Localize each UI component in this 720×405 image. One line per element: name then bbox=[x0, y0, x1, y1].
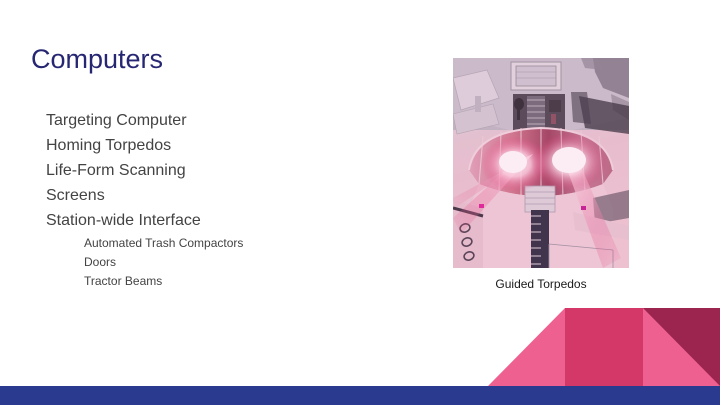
sub-bullet-list: Automated Trash Compactors Doors Tractor… bbox=[46, 234, 416, 291]
shape-mid-pink-block bbox=[565, 308, 643, 386]
list-item: Station-wide Interface bbox=[46, 208, 416, 233]
slide-canvas: Computers Targeting Computer Homing Torp… bbox=[0, 0, 720, 405]
footer-bar bbox=[0, 386, 720, 405]
sub-list-item: Automated Trash Compactors bbox=[84, 234, 416, 253]
page-title: Computers bbox=[31, 42, 163, 76]
sub-list-item: Doors bbox=[84, 253, 416, 272]
picture-caption: Guided Torpedos bbox=[453, 276, 629, 292]
guided-torpedos-photo bbox=[453, 58, 629, 268]
sub-list-item: Tractor Beams bbox=[84, 272, 416, 291]
list-item: Life-Form Scanning bbox=[46, 158, 416, 183]
photo-artwork bbox=[453, 58, 629, 268]
list-item: Screens bbox=[46, 183, 416, 208]
bullet-list: Targeting Computer Homing Torpedos Life-… bbox=[46, 108, 416, 291]
list-item: Homing Torpedos bbox=[46, 133, 416, 158]
shape-light-pink-triangle bbox=[488, 308, 565, 386]
list-item: Targeting Computer bbox=[46, 108, 416, 133]
